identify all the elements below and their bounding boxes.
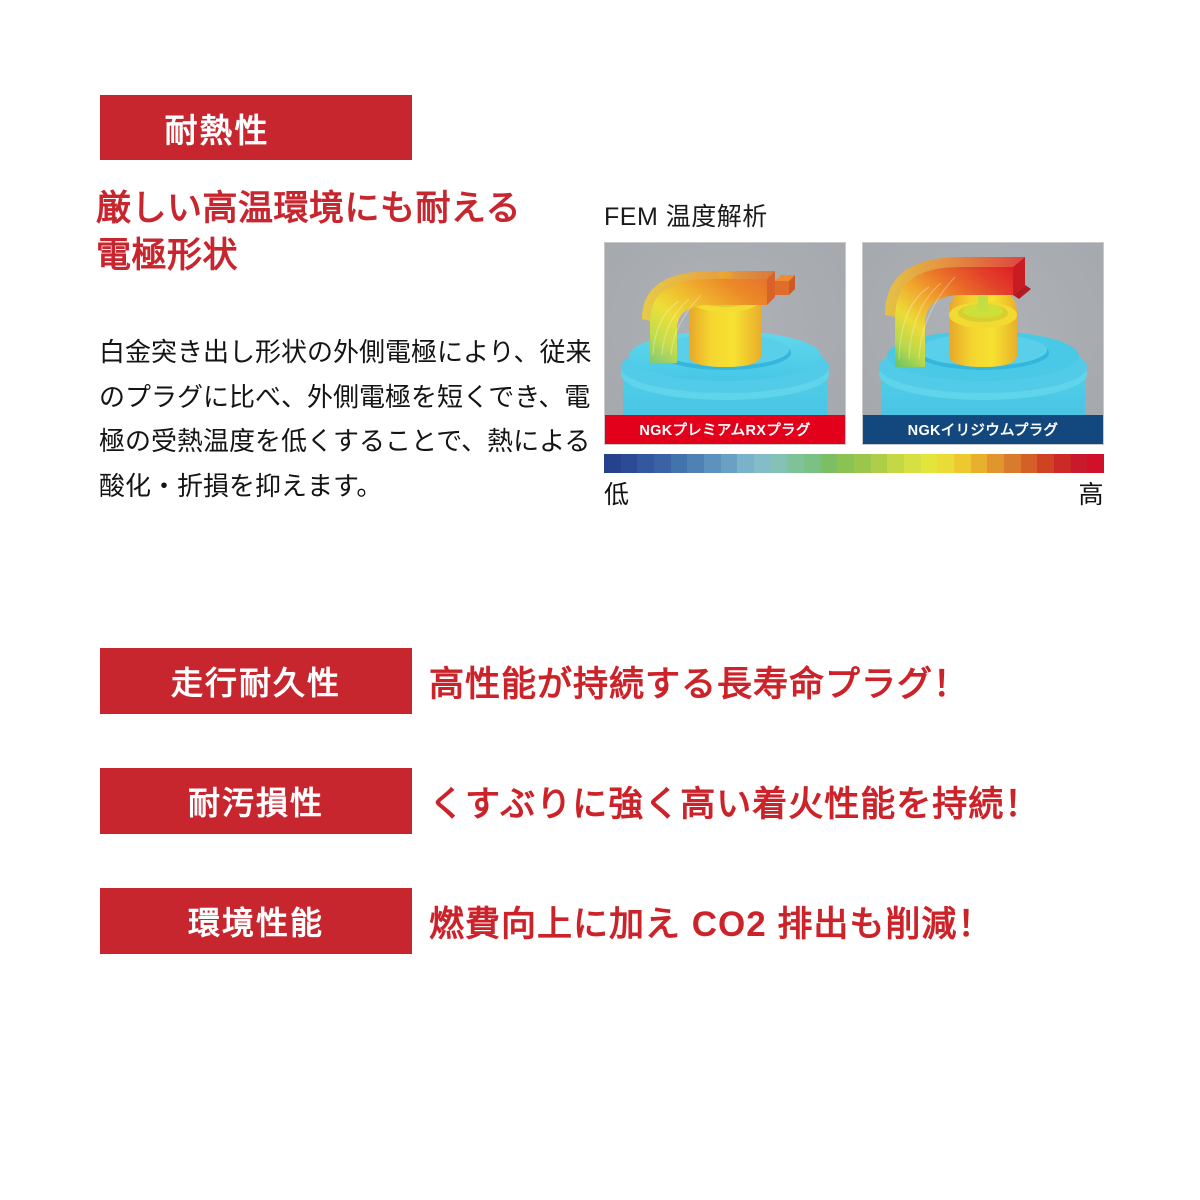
fem-heatmap-iridium <box>863 243 1103 444</box>
scale-segment-16 <box>871 454 888 473</box>
scale-segment-24 <box>1004 454 1021 473</box>
feature-text-fouling: くすぶりに強く高い着火性能を持続！ <box>429 776 1040 827</box>
scale-segment-0 <box>604 454 621 473</box>
scale-segment-13 <box>821 454 838 473</box>
fem-heatmap-premium-rx <box>605 243 845 444</box>
heat-headline: 厳しい高温環境にも耐える 電極形状 <box>96 185 616 280</box>
scale-segment-25 <box>1021 454 1038 473</box>
scale-segment-17 <box>887 454 904 473</box>
badge-heat-resistance-label: 耐熱性 <box>165 104 270 152</box>
scale-segment-21 <box>954 454 971 473</box>
heat-headline-line-2: 電極形状 <box>96 232 616 279</box>
feature-row-environment: 環境性能 燃費向上に加え CO2 排出も削減！ <box>100 888 993 954</box>
badge-environmental-performance-label: 環境性能 <box>188 898 324 944</box>
scale-label-low: 低 <box>604 475 630 511</box>
scale-segment-29 <box>1087 454 1104 473</box>
scale-segment-4 <box>671 454 688 473</box>
badge-driving-durability: 走行耐久性 <box>100 648 412 714</box>
feature-row-fouling: 耐汚損性 くすぶりに強く高い着火性能を持続！ <box>100 768 1040 834</box>
temperature-scale: 低 高 <box>604 454 1104 511</box>
scale-segment-22 <box>971 454 988 473</box>
scale-segment-9 <box>754 454 771 473</box>
scale-segment-1 <box>621 454 638 473</box>
feature-row-durability: 走行耐久性 高性能が持続する長寿命プラグ！ <box>100 648 969 714</box>
scale-segment-18 <box>904 454 921 473</box>
scale-segment-19 <box>921 454 938 473</box>
badge-environmental-performance: 環境性能 <box>100 888 412 954</box>
scale-segment-8 <box>737 454 754 473</box>
feature-text-environment: 燃費向上に加え CO2 排出も削減！ <box>429 896 993 947</box>
scale-segment-12 <box>804 454 821 473</box>
scale-segment-28 <box>1071 454 1088 473</box>
scale-segment-14 <box>837 454 854 473</box>
temperature-scale-labels: 低 高 <box>604 475 1104 511</box>
heat-body-text: 白金突き出し形状の外側電極により、従来のプラグに比べ、外側電極を短くでき、電極の… <box>99 330 599 509</box>
scale-segment-27 <box>1054 454 1071 473</box>
scale-segment-3 <box>654 454 671 473</box>
scale-segment-20 <box>937 454 954 473</box>
scale-label-high: 高 <box>1078 475 1104 511</box>
scale-segment-6 <box>704 454 721 473</box>
badge-fouling-resistance-label: 耐汚損性 <box>188 778 324 824</box>
scale-segment-15 <box>854 454 871 473</box>
scale-segment-26 <box>1037 454 1054 473</box>
badge-driving-durability-label: 走行耐久性 <box>171 658 341 704</box>
fem-caption-iridium: NGKイリジウムプラグ <box>863 415 1103 444</box>
scale-segment-10 <box>771 454 788 473</box>
fem-panel-group: NGKプレミアムRXプラグ <box>604 242 1104 445</box>
fem-analysis-block: FEM 温度解析 <box>604 197 1104 511</box>
scale-segment-11 <box>787 454 804 473</box>
heat-headline-line-1: 厳しい高温環境にも耐える <box>96 185 616 232</box>
feature-text-durability: 高性能が持続する長寿命プラグ！ <box>429 656 969 707</box>
fem-panel-premium-rx: NGKプレミアムRXプラグ <box>604 242 846 445</box>
scale-segment-2 <box>637 454 654 473</box>
scale-segment-23 <box>987 454 1004 473</box>
scale-segment-5 <box>687 454 704 473</box>
temperature-scale-bar <box>604 454 1104 473</box>
fem-caption-premium-rx: NGKプレミアムRXプラグ <box>605 415 845 444</box>
badge-heat-resistance: 耐熱性 <box>100 95 412 160</box>
badge-fouling-resistance: 耐汚損性 <box>100 768 412 834</box>
scale-segment-7 <box>721 454 738 473</box>
product-feature-infographic: 耐熱性 厳しい高温環境にも耐える 電極形状 白金突き出し形状の外側電極により、従… <box>0 0 1200 1200</box>
fem-panel-iridium: NGKイリジウムプラグ <box>862 242 1104 445</box>
fem-analysis-title: FEM 温度解析 <box>604 197 1104 233</box>
